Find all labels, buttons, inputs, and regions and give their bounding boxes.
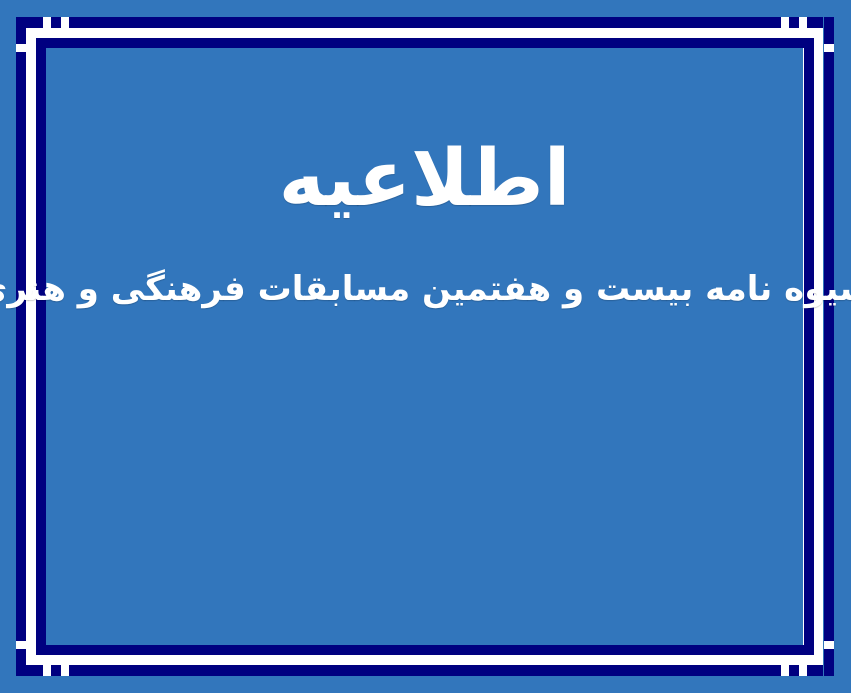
notch-gap-right-top	[825, 44, 835, 52]
notch-gap-bottom-right-a	[800, 665, 808, 676]
frame-outer-rule-bottom	[27, 665, 824, 676]
poster-subtitle: شیوه نامه بیست و هفتمین مسابقات فرهنگی و…	[0, 268, 852, 311]
notch-gap-top-left-b	[62, 17, 70, 28]
notch-gap-top-left-a	[44, 17, 52, 28]
notch-gap-bottom-right-b	[782, 665, 790, 676]
page-title: اطلاعیه	[280, 140, 572, 218]
notch-gap-right-bottom	[825, 641, 835, 649]
frame-inner-rule-left	[37, 38, 47, 655]
notch-gap-left-bottom	[17, 641, 27, 649]
frame-inner-rule-right	[805, 38, 815, 655]
notch-gap-bottom-left-b	[62, 665, 70, 676]
frame-inner-rule-top	[37, 38, 814, 48]
frame-outer-rule-left	[17, 17, 27, 676]
notch-gap-left-top	[17, 44, 27, 52]
poster-content: اطلاعیه شیوه نامه بیست و هفتمین مسابقات …	[47, 48, 804, 645]
notch-gap-top-right-a	[800, 17, 808, 28]
frame-inner-rule-bottom	[37, 645, 814, 655]
frame-outer-rule-right	[825, 17, 835, 676]
announcement-poster: اطلاعیه شیوه نامه بیست و هفتمین مسابقات …	[0, 0, 852, 693]
notch-gap-bottom-left-a	[44, 665, 52, 676]
frame-outer-rule-top	[27, 17, 824, 28]
notch-gap-top-right-b	[782, 17, 790, 28]
